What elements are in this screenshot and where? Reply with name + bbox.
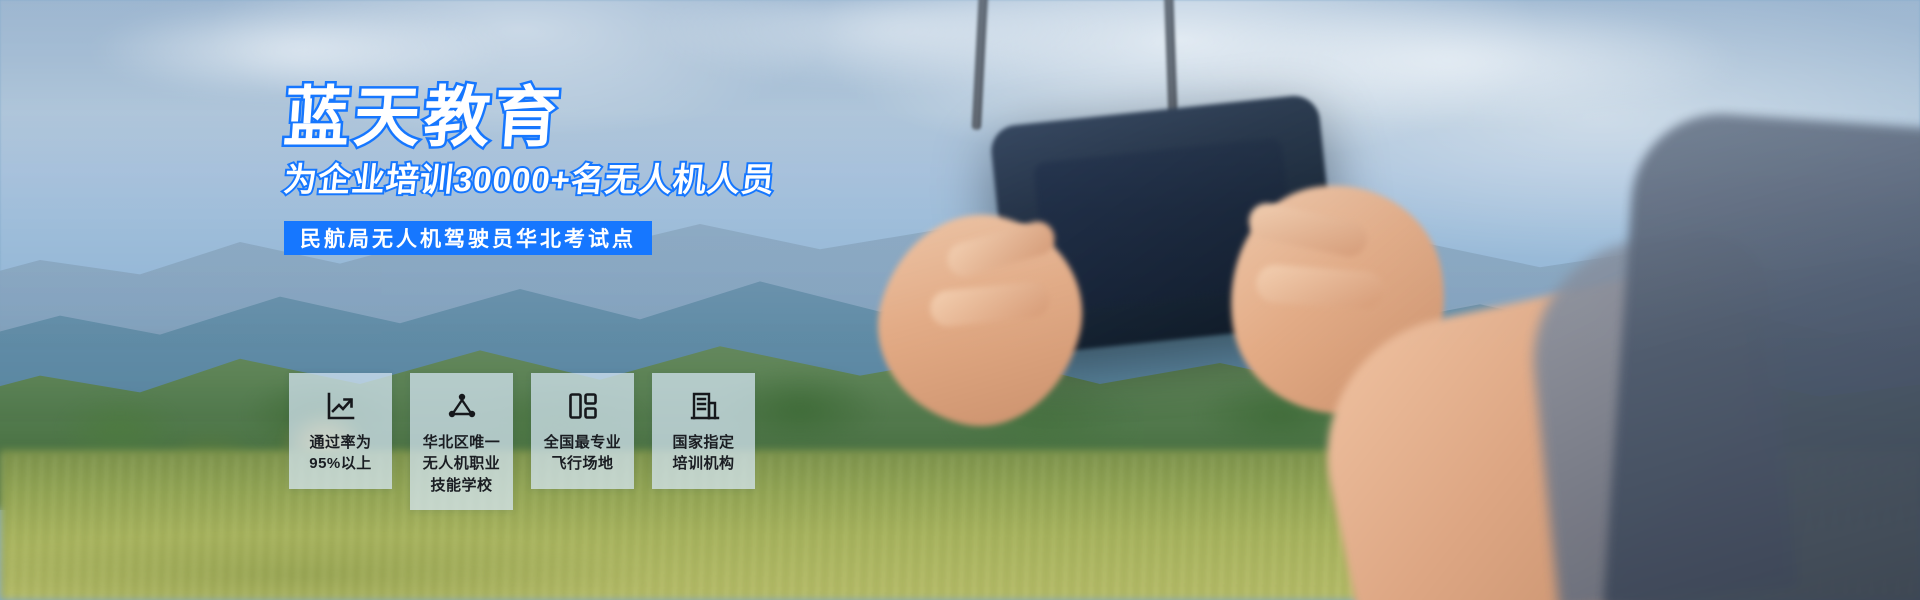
- feature-card-pass-rate[interactable]: 通过率为 95%以上: [289, 373, 392, 489]
- hero-banner: 蓝天教育 为企业培训30000+名无人机人员 民航局无人机驾驶员华北考试点 通过…: [0, 0, 1920, 600]
- feature-card-label: 全国最专业 飞行场地: [544, 432, 622, 475]
- banner-title: 蓝天教育: [282, 84, 567, 150]
- feature-card-label: 国家指定 培训机构: [672, 432, 734, 475]
- feature-card-label: 通过率为 95%以上: [309, 432, 372, 475]
- chart-up-icon: [324, 389, 358, 423]
- feature-card-label: 华北区唯一 无人机职业 技能学校: [423, 432, 501, 496]
- feature-card-flight-field[interactable]: 全国最专业 飞行场地: [531, 373, 634, 489]
- feature-card-national-institution[interactable]: 国家指定 培训机构: [652, 373, 755, 489]
- banner-content: 蓝天教育 为企业培训30000+名无人机人员 民航局无人机驾驶员华北考试点 通过…: [0, 0, 1920, 600]
- building-icon: [687, 389, 721, 423]
- layout-columns-icon: [566, 389, 600, 423]
- banner-subtitle: 为企业培训30000+名无人机人员: [282, 163, 777, 196]
- feature-card-vocational-school[interactable]: 华北区唯一 无人机职业 技能学校: [410, 373, 513, 510]
- status-badge: 民航局无人机驾驶员华北考试点: [284, 221, 652, 255]
- network-node-icon: [445, 389, 479, 423]
- feature-card-list: 通过率为 95%以上 华北区唯一 无人机职业 技能学校: [289, 373, 755, 510]
